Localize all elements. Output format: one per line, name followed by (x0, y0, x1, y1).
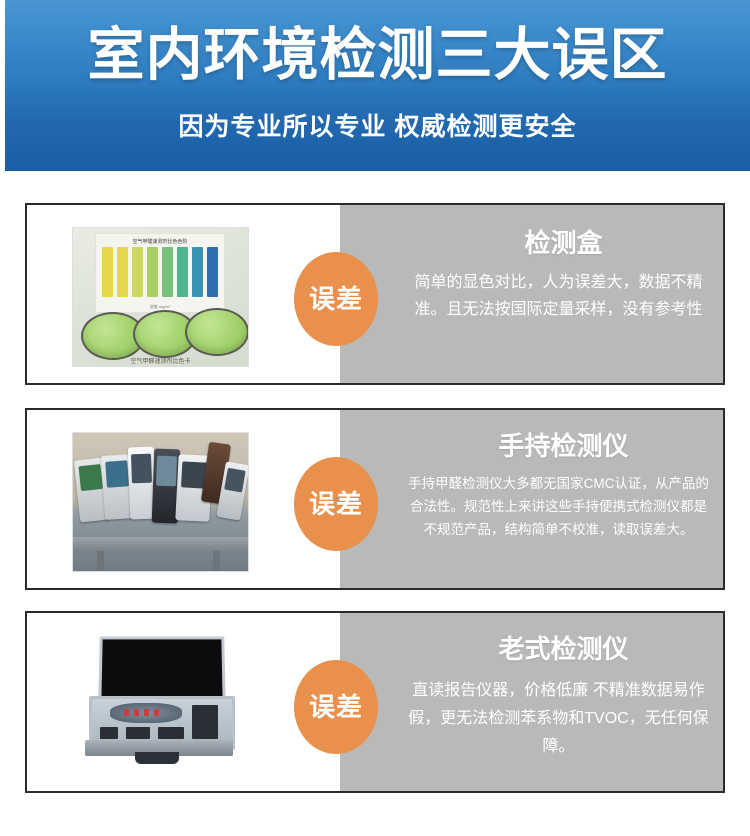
instrument-case-lid (98, 636, 226, 704)
page-subtitle: 因为专业所以专业 权威检测更安全 (5, 110, 750, 144)
card-body-text: 直读报告仪器，价格低廉 不精准数据易作假，更无法检测苯系物和TVOC，无任何保障… (404, 677, 713, 761)
card-photo-panel (27, 613, 340, 791)
card-title: 老式检测仪 (412, 633, 715, 665)
card-title: 检测盒 (412, 227, 715, 259)
card-body-text: 简单的显色对比，人为误差大，数据不精准。且无法按国际定量采样，没有参考性 (404, 269, 713, 323)
error-badge: 误差 (294, 252, 378, 346)
colorimetric-bars (102, 247, 218, 297)
instrument-case-handle (135, 752, 179, 764)
error-badge: 误差 (294, 457, 378, 551)
error-badge-label: 误差 (309, 286, 363, 312)
color-bar (132, 247, 143, 297)
color-bar (162, 247, 173, 297)
photo-handheld-detectors (72, 432, 249, 572)
card-text-panel: 手持检测仪 手持甲醛检测仪大多都无国家CMC认证，从产品的合法性。规范性上来讲这… (340, 410, 723, 588)
photo-detection-box: 空气甲醛速测剂比色色阶 浓度 mg/m³ (72, 227, 249, 367)
photo-legacy-instrument (72, 631, 264, 779)
card-text-panel: 老式检测仪 直读报告仪器，价格低廉 不精准数据易作假，更无法检测苯系物和TVOC… (340, 613, 723, 791)
color-bar (192, 247, 203, 297)
photo-caption: 空气甲醛速测剂比色卡 (73, 356, 248, 365)
error-badge-label: 误差 (309, 491, 363, 517)
card-photo-panel: 空气甲醛速测剂比色色阶 浓度 mg/m³ (27, 205, 340, 383)
work-table-leg (97, 551, 104, 571)
color-bar (102, 247, 113, 297)
sample-dish (185, 308, 249, 356)
error-card-legacy-instrument: 老式检测仪 直读报告仪器，价格低廉 不精准数据易作假，更无法检测苯系物和TVOC… (25, 611, 725, 793)
card-body-text: 手持甲醛检测仪大多都无国家CMC认证，从产品的合法性。规范性上来讲这些手持便携式… (404, 472, 713, 541)
error-badge-label: 误差 (309, 694, 363, 720)
color-bar (147, 247, 158, 297)
page-title: 室内环境检测三大误区 (5, 20, 750, 90)
color-bar (117, 247, 128, 297)
color-bar (177, 247, 188, 297)
card-title: 手持检测仪 (412, 430, 715, 462)
card-photo-panel (27, 410, 340, 588)
error-badge: 误差 (294, 660, 378, 754)
page-header-banner: 室内环境检测三大误区 因为专业所以专业 权威检测更安全 (5, 0, 750, 171)
card-text-panel: 检测盒 简单的显色对比，人为误差大，数据不精准。且无法按国际定量采样，没有参考性 (340, 205, 723, 383)
error-card-handheld-detector: 手持检测仪 手持甲醛检测仪大多都无国家CMC认证，从产品的合法性。规范性上来讲这… (25, 408, 725, 590)
error-card-detection-box: 空气甲醛速测剂比色色阶 浓度 mg/m³ (25, 203, 725, 385)
colorimetric-chart: 空气甲醛速测剂比色色阶 浓度 mg/m³ (95, 233, 225, 313)
color-bar (207, 247, 218, 297)
colorimetric-chart-title: 空气甲醛速测剂比色色阶 (96, 238, 224, 245)
work-table-leg (213, 551, 220, 571)
instrument-control-panel (110, 703, 182, 723)
